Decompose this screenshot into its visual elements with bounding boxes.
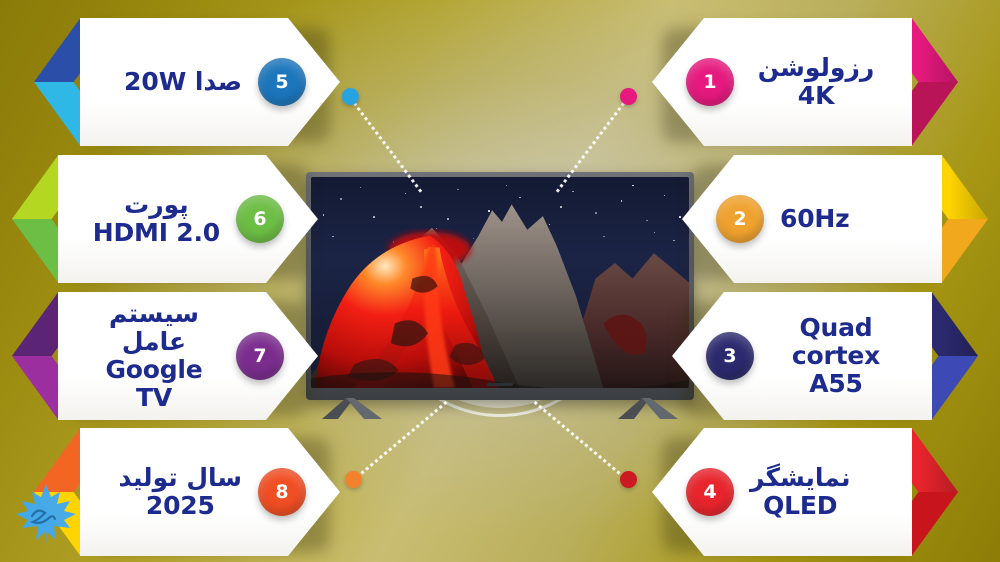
card-content: 1رزولوشن 4K	[652, 18, 912, 146]
card-number-badge-5: 5	[258, 58, 306, 106]
connector-dot-5	[342, 88, 359, 105]
spec-card-3[interactable]: 3Quadcortex A55	[672, 292, 932, 420]
card-number-badge-3: 3	[706, 332, 754, 380]
card-label-line2: Google TV	[88, 356, 220, 412]
card-number-badge-1: 1	[686, 58, 734, 106]
spec-card-2[interactable]: 260Hz	[682, 155, 942, 283]
card-label-3: Quadcortex A55	[770, 314, 902, 398]
spec-card-4[interactable]: 4نمایشگرQLED	[652, 428, 912, 556]
card-label-line1: سال تولید	[119, 464, 242, 492]
card-label-line2: cortex A55	[770, 342, 902, 398]
card-label-2: 60Hz	[780, 205, 849, 233]
card-label-line1: صدا 20W	[124, 68, 242, 96]
card-content: 260Hz	[682, 155, 942, 283]
card-content: صدا 20W5	[80, 18, 340, 146]
card-label-line1: 60Hz	[780, 205, 849, 233]
card-number-badge-4: 4	[686, 468, 734, 516]
card-label-line1: نمایشگر	[750, 464, 850, 492]
tv-device	[306, 172, 694, 400]
tv-foot-left	[320, 398, 384, 420]
connector-dot-8	[345, 471, 362, 488]
card-label-line2: QLED	[750, 492, 850, 520]
card-label-line2: HDMI 2.0	[93, 219, 220, 247]
card-label-line1: Quad	[770, 314, 902, 342]
card-content: سیستم عاملGoogle TV7	[58, 292, 318, 420]
connector-dot-1	[620, 88, 637, 105]
connector-dot-4	[620, 471, 637, 488]
card-label-line2: 2025	[119, 492, 242, 520]
card-label-4: نمایشگرQLED	[750, 464, 850, 520]
spec-card-5[interactable]: صدا 20W5	[80, 18, 340, 146]
card-content: 3Quadcortex A55	[672, 292, 932, 420]
card-number-badge-8: 8	[258, 468, 306, 516]
card-content: 4نمایشگرQLED	[652, 428, 912, 556]
connector-line-4	[534, 401, 629, 482]
card-label-7: سیستم عاملGoogle TV	[88, 300, 220, 412]
maple-leaf-icon	[14, 482, 78, 548]
card-content: پورتHDMI 2.06	[58, 155, 318, 283]
card-content: سال تولید20258	[80, 428, 340, 556]
card-label-line1: رزولوشن 4K	[750, 54, 882, 110]
card-label-5: صدا 20W	[124, 68, 242, 96]
tv-bezel	[306, 172, 694, 400]
card-label-1: رزولوشن 4K	[750, 54, 882, 110]
spec-card-8[interactable]: سال تولید20258	[80, 428, 340, 556]
card-number-badge-7: 7	[236, 332, 284, 380]
card-label-6: پورتHDMI 2.0	[93, 191, 220, 247]
infographic-canvas: 1رزولوشن 4K260Hz3Quadcortex A554نمایشگرQ…	[0, 0, 1000, 562]
card-label-line1: سیستم عامل	[88, 300, 220, 356]
tv-screen	[311, 177, 689, 388]
card-number-badge-2: 2	[716, 195, 764, 243]
card-label-8: سال تولید2025	[119, 464, 242, 520]
spec-card-7[interactable]: سیستم عاملGoogle TV7	[58, 292, 318, 420]
card-label-line1: پورت	[93, 191, 220, 219]
spec-card-1[interactable]: 1رزولوشن 4K	[652, 18, 912, 146]
spec-card-6[interactable]: پورتHDMI 2.06	[58, 155, 318, 283]
tv-foot-right	[616, 398, 680, 420]
card-number-badge-6: 6	[236, 195, 284, 243]
tv-brand-strip	[487, 383, 513, 386]
volcano-scene-icon	[311, 177, 689, 388]
